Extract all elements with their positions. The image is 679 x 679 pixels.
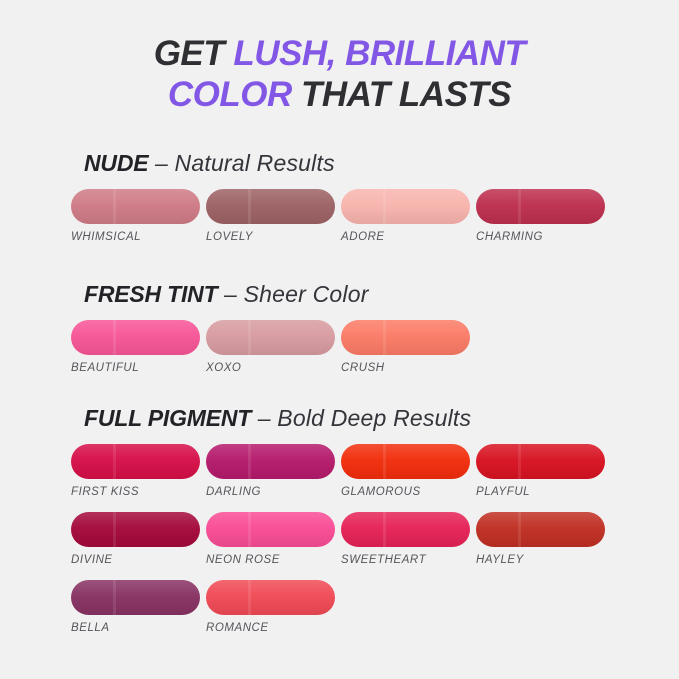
swatch-color-chip[interactable] xyxy=(71,580,200,615)
swatch-color-chip[interactable] xyxy=(71,444,200,479)
swatch-color-chip[interactable] xyxy=(71,320,200,355)
swatch-item[interactable]: SWEETHEART xyxy=(341,512,470,566)
swatch-row: BEAUTIFULXOXOCRUSH xyxy=(0,320,679,388)
section-subtitle: – Natural Results xyxy=(148,150,334,176)
swatch-color-chip[interactable] xyxy=(71,512,200,547)
headline-accent-lush-brilliant: LUSH, BRILLIANT xyxy=(233,34,525,73)
swatch-label: SWEETHEART xyxy=(341,554,470,566)
section-title: FRESH TINT xyxy=(84,281,217,307)
section-nude: NUDE – Natural ResultsWHIMSICALLOVELYADO… xyxy=(0,150,679,257)
headline-text-get: GET xyxy=(154,34,234,73)
section-title: FULL PIGMENT xyxy=(84,405,251,431)
headline-line-2: COLOR THAT LASTS xyxy=(0,75,679,116)
swatch-label: DARLING xyxy=(206,486,335,498)
lipstick-shade-chart: GET LUSH, BRILLIANT COLOR THAT LASTS NUD… xyxy=(0,0,679,679)
swatch-label: GLAMOROUS xyxy=(341,486,470,498)
page-title: GET LUSH, BRILLIANT COLOR THAT LASTS xyxy=(0,0,679,115)
swatch-color-chip[interactable] xyxy=(206,189,335,224)
swatch-color-chip[interactable] xyxy=(341,189,470,224)
swatch-label: ROMANCE xyxy=(206,622,335,634)
section-subtitle: – Sheer Color xyxy=(217,281,368,307)
swatch-label: NEON ROSE xyxy=(206,554,335,566)
swatch-color-chip[interactable] xyxy=(476,444,605,479)
swatch-item[interactable]: NEON ROSE xyxy=(206,512,335,566)
headline-line-1: GET LUSH, BRILLIANT xyxy=(0,34,679,75)
swatch-color-chip[interactable] xyxy=(341,444,470,479)
swatch-label: WHIMSICAL xyxy=(71,231,200,243)
swatch-item[interactable]: DARLING xyxy=(206,444,335,498)
swatch-item[interactable]: CRUSH xyxy=(341,320,470,374)
swatch-row: DIVINENEON ROSESWEETHEARTHAYLEY xyxy=(0,512,679,580)
swatch-item[interactable]: WHIMSICAL xyxy=(71,189,200,243)
section-title: NUDE xyxy=(84,150,148,176)
swatch-color-chip[interactable] xyxy=(71,189,200,224)
swatch-item[interactable]: FIRST KISS xyxy=(71,444,200,498)
swatch-color-chip[interactable] xyxy=(476,189,605,224)
swatch-item[interactable]: HAYLEY xyxy=(476,512,605,566)
swatch-item[interactable]: CHARMING xyxy=(476,189,605,243)
swatch-item[interactable]: XOXO xyxy=(206,320,335,374)
swatch-label: BELLA xyxy=(71,622,200,634)
section-full-pigment: FULL PIGMENT – Bold Deep ResultsFIRST KI… xyxy=(0,405,679,648)
swatch-label: DIVINE xyxy=(71,554,200,566)
section-fresh-tint: FRESH TINT – Sheer ColorBEAUTIFULXOXOCRU… xyxy=(0,281,679,388)
section-header: NUDE – Natural Results xyxy=(0,150,679,177)
swatch-item[interactable]: PLAYFUL xyxy=(476,444,605,498)
swatch-label: CHARMING xyxy=(476,231,605,243)
swatch-color-chip[interactable] xyxy=(341,320,470,355)
swatch-row: WHIMSICALLOVELYADORECHARMING xyxy=(0,189,679,257)
headline-text-that-lasts: THAT LASTS xyxy=(292,75,511,114)
headline-accent-color: COLOR xyxy=(168,75,292,114)
swatch-color-chip[interactable] xyxy=(476,512,605,547)
section-header: FULL PIGMENT – Bold Deep Results xyxy=(0,405,679,432)
swatch-item[interactable]: GLAMOROUS xyxy=(341,444,470,498)
swatch-color-chip[interactable] xyxy=(206,580,335,615)
swatch-item[interactable]: BELLA xyxy=(71,580,200,634)
swatch-label: ADORE xyxy=(341,231,470,243)
swatch-row: FIRST KISSDARLINGGLAMOROUSPLAYFUL xyxy=(0,444,679,512)
swatch-item[interactable]: ROMANCE xyxy=(206,580,335,634)
swatch-row: BELLAROMANCE xyxy=(0,580,679,648)
swatch-label: LOVELY xyxy=(206,231,335,243)
swatch-item[interactable]: LOVELY xyxy=(206,189,335,243)
swatch-color-chip[interactable] xyxy=(206,444,335,479)
swatch-label: FIRST KISS xyxy=(71,486,200,498)
swatch-label: CRUSH xyxy=(341,362,470,374)
swatch-item[interactable]: DIVINE xyxy=(71,512,200,566)
swatch-label: PLAYFUL xyxy=(476,486,605,498)
swatch-label: HAYLEY xyxy=(476,554,605,566)
swatch-color-chip[interactable] xyxy=(206,320,335,355)
swatch-color-chip[interactable] xyxy=(341,512,470,547)
swatch-item[interactable]: BEAUTIFUL xyxy=(71,320,200,374)
swatch-label: XOXO xyxy=(206,362,335,374)
section-subtitle: – Bold Deep Results xyxy=(251,405,471,431)
section-header: FRESH TINT – Sheer Color xyxy=(0,281,679,308)
swatch-item[interactable]: ADORE xyxy=(341,189,470,243)
swatch-color-chip[interactable] xyxy=(206,512,335,547)
swatch-label: BEAUTIFUL xyxy=(71,362,200,374)
